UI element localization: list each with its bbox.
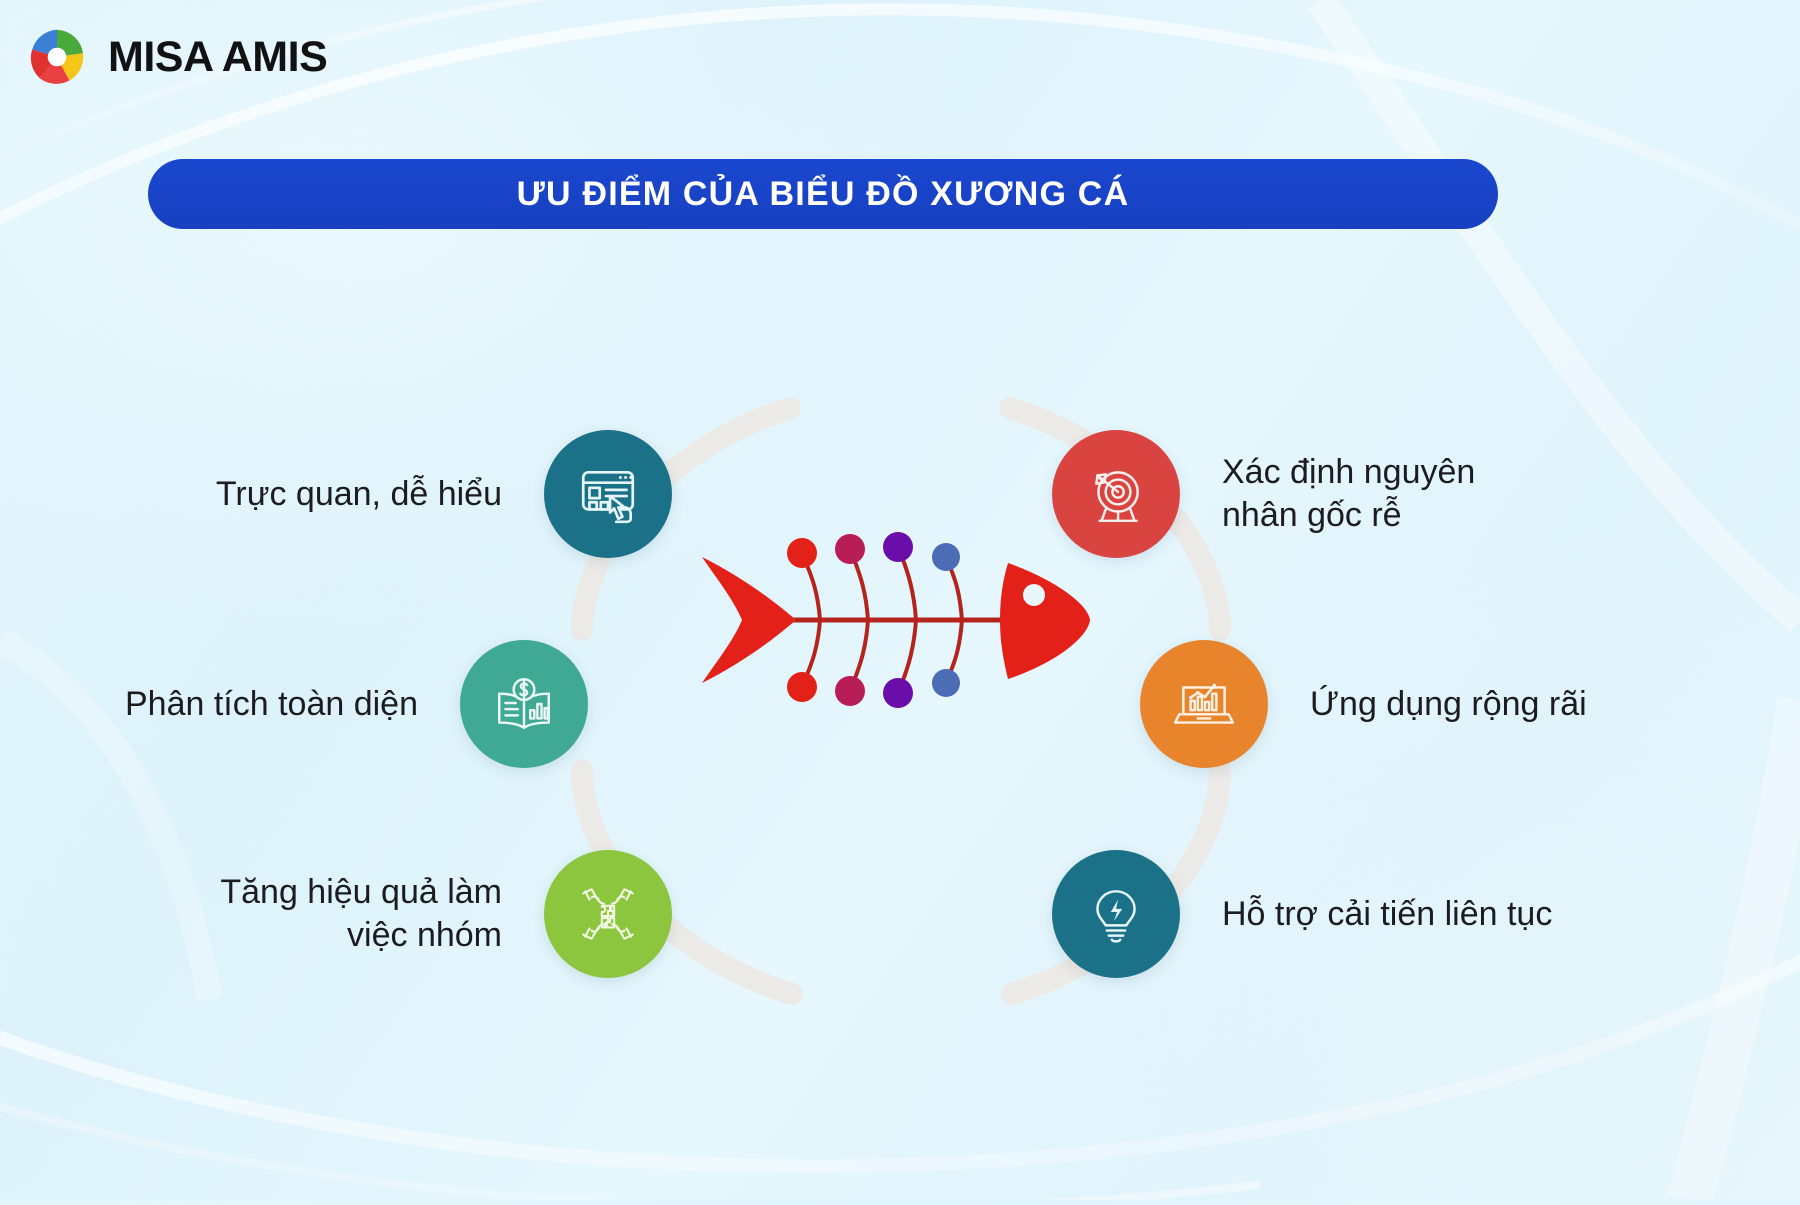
benefit-icon-circle-3[interactable] [544, 850, 672, 978]
brand-logo[interactable]: MISA AMIS [26, 26, 327, 88]
benefit-item-1[interactable]: Trực quan, dễ hiểu [0, 430, 672, 558]
benefit-item-3[interactable]: Tăng hiệu quả làm việc nhóm [0, 850, 672, 978]
benefit-label-5: Ứng dụng rộng rãi [1310, 683, 1587, 726]
page-title: ƯU ĐIỂM CỦA BIỂU ĐỒ XƯƠNG CÁ [517, 175, 1130, 214]
misa-swirl-logo-icon [26, 26, 88, 88]
benefit-icon-circle-6[interactable] [1052, 850, 1180, 978]
laptop-chart-icon [1171, 671, 1237, 737]
infographic-stage: Trực quan, dễ hiểu Phân tích toàn diện [0, 300, 1800, 1200]
brand-name: MISA AMIS [108, 33, 327, 82]
benefit-icon-circle-4[interactable] [1052, 430, 1180, 558]
benefit-label-3: Tăng hiệu quả làm việc nhóm [220, 871, 502, 957]
hands-puzzle-teamwork-icon [575, 881, 641, 947]
benefit-icon-circle-1[interactable] [544, 430, 672, 558]
benefit-icon-circle-5[interactable] [1140, 640, 1268, 768]
benefit-item-6[interactable]: Hỗ trợ cải tiến liên tục [1052, 850, 1552, 978]
benefit-label-4: Xác định nguyên nhân gốc rễ [1222, 451, 1475, 537]
benefit-item-2[interactable]: Phân tích toàn diện [0, 640, 588, 768]
fishbone-diagram-illustration [690, 505, 1110, 735]
target-arrow-icon [1083, 461, 1149, 527]
page-title-banner: ƯU ĐIỂM CỦA BIỂU ĐỒ XƯƠNG CÁ [148, 159, 1498, 229]
browser-click-icon [575, 461, 641, 527]
benefit-label-6: Hỗ trợ cải tiến liên tục [1222, 893, 1552, 936]
benefit-label-2: Phân tích toàn diện [125, 683, 418, 726]
benefit-icon-circle-2[interactable] [460, 640, 588, 768]
benefit-item-4[interactable]: Xác định nguyên nhân gốc rễ [1052, 430, 1475, 558]
lightbulb-idea-icon [1083, 881, 1149, 947]
book-chart-dollar-icon [491, 671, 557, 737]
benefit-item-5[interactable]: Ứng dụng rộng rãi [1140, 640, 1587, 768]
benefit-label-1: Trực quan, dễ hiểu [216, 473, 502, 516]
